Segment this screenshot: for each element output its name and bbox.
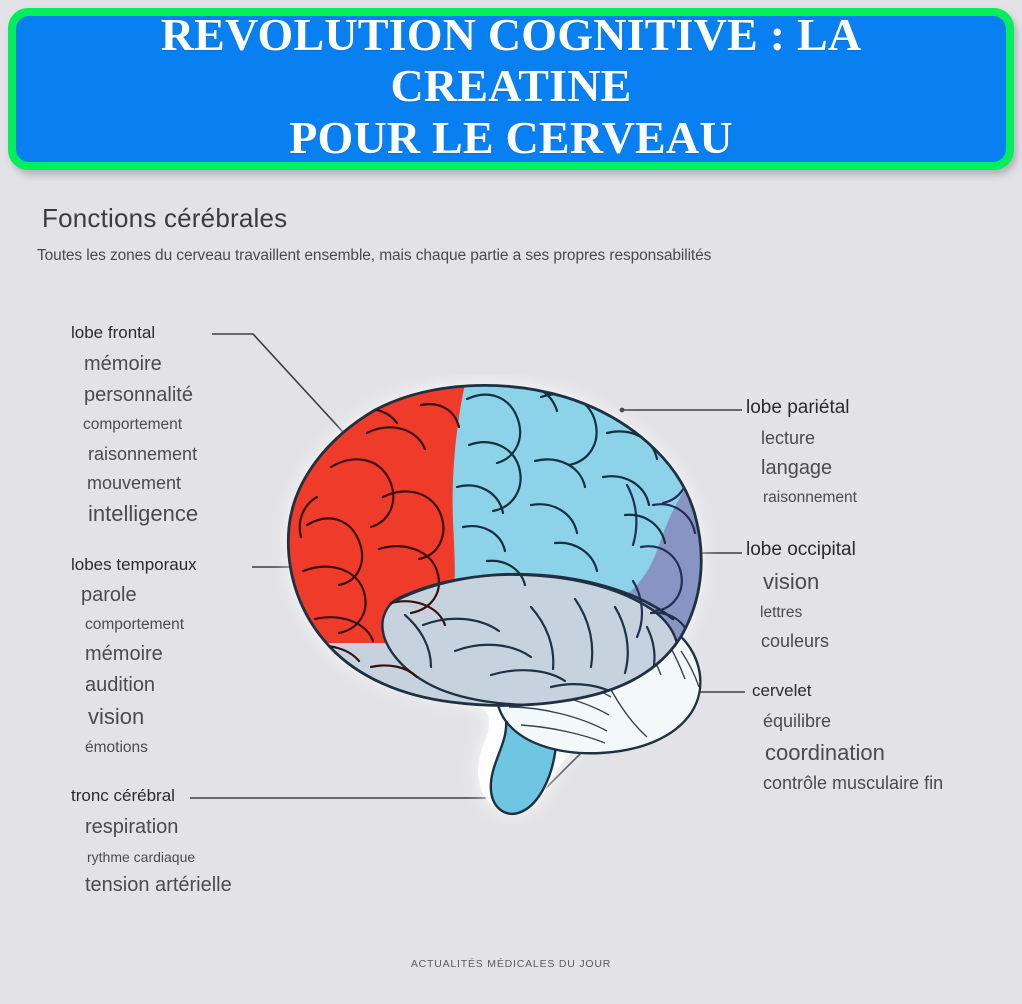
callout-brainstem-term-3: tension artérielle: [85, 874, 232, 897]
callout-cerebellum-term-3: contrôle musculaire fin: [763, 773, 943, 794]
section-title: Fonctions cérébrales: [42, 203, 287, 234]
callout-brainstem-head: tronc cérébral: [71, 786, 232, 806]
callout-parietal-term-2: langage: [761, 457, 857, 480]
title-banner: REVOLUTION COGNITIVE : LA CREATINE POUR …: [8, 8, 1014, 170]
title-line-1: REVOLUTION COGNITIVE : LA CREATINE: [161, 9, 862, 112]
callout-frontal-term-2: personnalité: [84, 384, 198, 407]
callout-frontal-term-6: intelligence: [88, 501, 198, 527]
brain-illustration: [255, 375, 745, 825]
callout-occipital-term-1: vision: [763, 569, 856, 595]
callout-temporal-term-5: vision: [88, 704, 197, 730]
callout-occipital-term-2: lettres: [760, 604, 856, 622]
callout-frontal[interactable]: lobe frontal mémoire personnalité compor…: [71, 323, 198, 527]
callout-brainstem[interactable]: tronc cérébral respiration rythme cardia…: [71, 786, 232, 897]
title-line-2: POUR LE CERVEAU: [289, 112, 733, 163]
callout-brainstem-term-2: rythme cardiaque: [87, 849, 232, 865]
page-title: REVOLUTION COGNITIVE : LA CREATINE POUR …: [42, 9, 980, 164]
callout-frontal-head: lobe frontal: [71, 323, 198, 343]
footer-credit: ACTUALITÉS MÉDICALES DU JOUR: [0, 958, 1022, 970]
callout-occipital[interactable]: lobe occipital vision lettres couleurs: [746, 539, 856, 652]
callout-parietal[interactable]: lobe pariétal lecture langage raisonneme…: [746, 397, 857, 507]
callout-temporal-head: lobes temporaux: [71, 555, 197, 575]
callout-parietal-head: lobe pariétal: [746, 397, 857, 419]
callout-cerebellum[interactable]: cervelet équilibre coordination contrôle…: [752, 681, 943, 794]
section-subtitle: Toutes les zones du cerveau travaillent …: [37, 247, 711, 265]
brain-diagram: lobe frontal mémoire personnalité compor…: [0, 285, 1022, 925]
callout-temporal-term-2: comportement: [85, 616, 197, 634]
callout-occipital-term-3: couleurs: [761, 631, 856, 652]
callout-cerebellum-term-1: équilibre: [763, 711, 943, 732]
page-background: REVOLUTION COGNITIVE : LA CREATINE POUR …: [0, 0, 1022, 1004]
callout-brainstem-term-1: respiration: [85, 816, 232, 839]
title-banner-inner: REVOLUTION COGNITIVE : LA CREATINE POUR …: [16, 16, 1006, 162]
callout-temporal[interactable]: lobes temporaux parole comportement mémo…: [71, 555, 197, 757]
callout-frontal-term-5: mouvement: [87, 473, 198, 494]
callout-frontal-term-4: raisonnement: [88, 444, 198, 465]
callout-temporal-term-6: émotions: [85, 739, 197, 757]
callout-temporal-term-4: audition: [85, 674, 197, 697]
callout-parietal-term-3: raisonnement: [763, 489, 857, 507]
callout-temporal-term-3: mémoire: [85, 643, 197, 666]
callout-occipital-head: lobe occipital: [746, 539, 856, 561]
callout-temporal-term-1: parole: [81, 584, 197, 607]
callout-cerebellum-term-2: coordination: [765, 740, 943, 766]
callout-frontal-term-1: mémoire: [84, 353, 198, 376]
callout-cerebellum-head: cervelet: [752, 681, 943, 701]
callout-frontal-term-3: comportement: [83, 416, 198, 434]
callout-parietal-term-1: lecture: [761, 428, 857, 449]
